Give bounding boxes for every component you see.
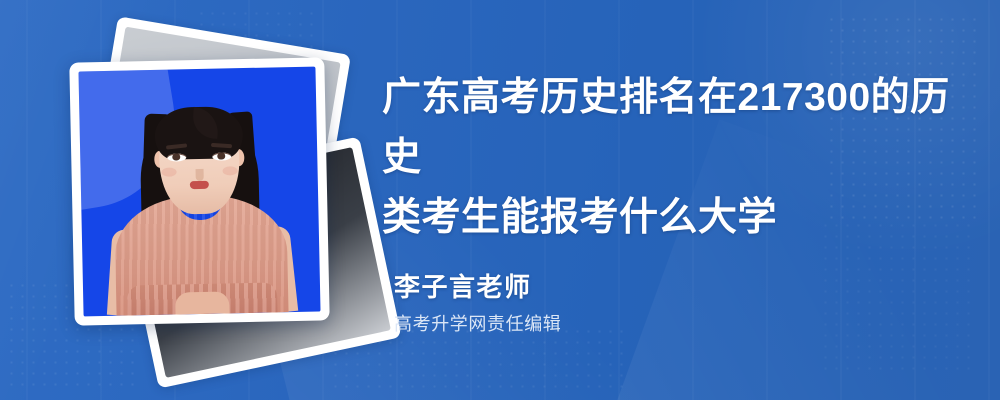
page-title: 广东高考历史排名在217300的历史 类考生能报考什么大学 [382,68,982,248]
author-name: 李子言老师 [394,270,561,304]
portrait-blush-right [222,166,237,175]
byline: 李子言老师 高考升学网责任编辑 [394,270,561,336]
portrait-blush-left [161,167,176,176]
page-title-line-1: 广东高考历史排名在217300的历史 [382,68,982,188]
portrait-lips [190,181,209,189]
portrait-iris-right [217,152,225,160]
author-photo-frame [69,57,329,325]
author-portrait-photo [78,67,320,317]
page-title-line-2: 类考生能报考什么大学 [382,188,982,248]
portrait-eye-right [212,152,231,160]
portrait-figure [78,67,320,317]
portrait-hands [175,291,229,314]
banner-text-column: 广东高考历史排名在217300的历史 类考生能报考什么大学 李子言老师 高考升学… [380,0,1000,400]
author-photo-stack [0,0,380,400]
portrait-eye-left [167,153,186,161]
author-role: 高考升学网责任编辑 [394,312,561,336]
article-header-banner: 广东高考历史排名在217300的历史 类考生能报考什么大学 李子言老师 高考升学… [0,0,1000,400]
portrait-nose [195,169,203,181]
portrait-iris-left [172,153,180,161]
